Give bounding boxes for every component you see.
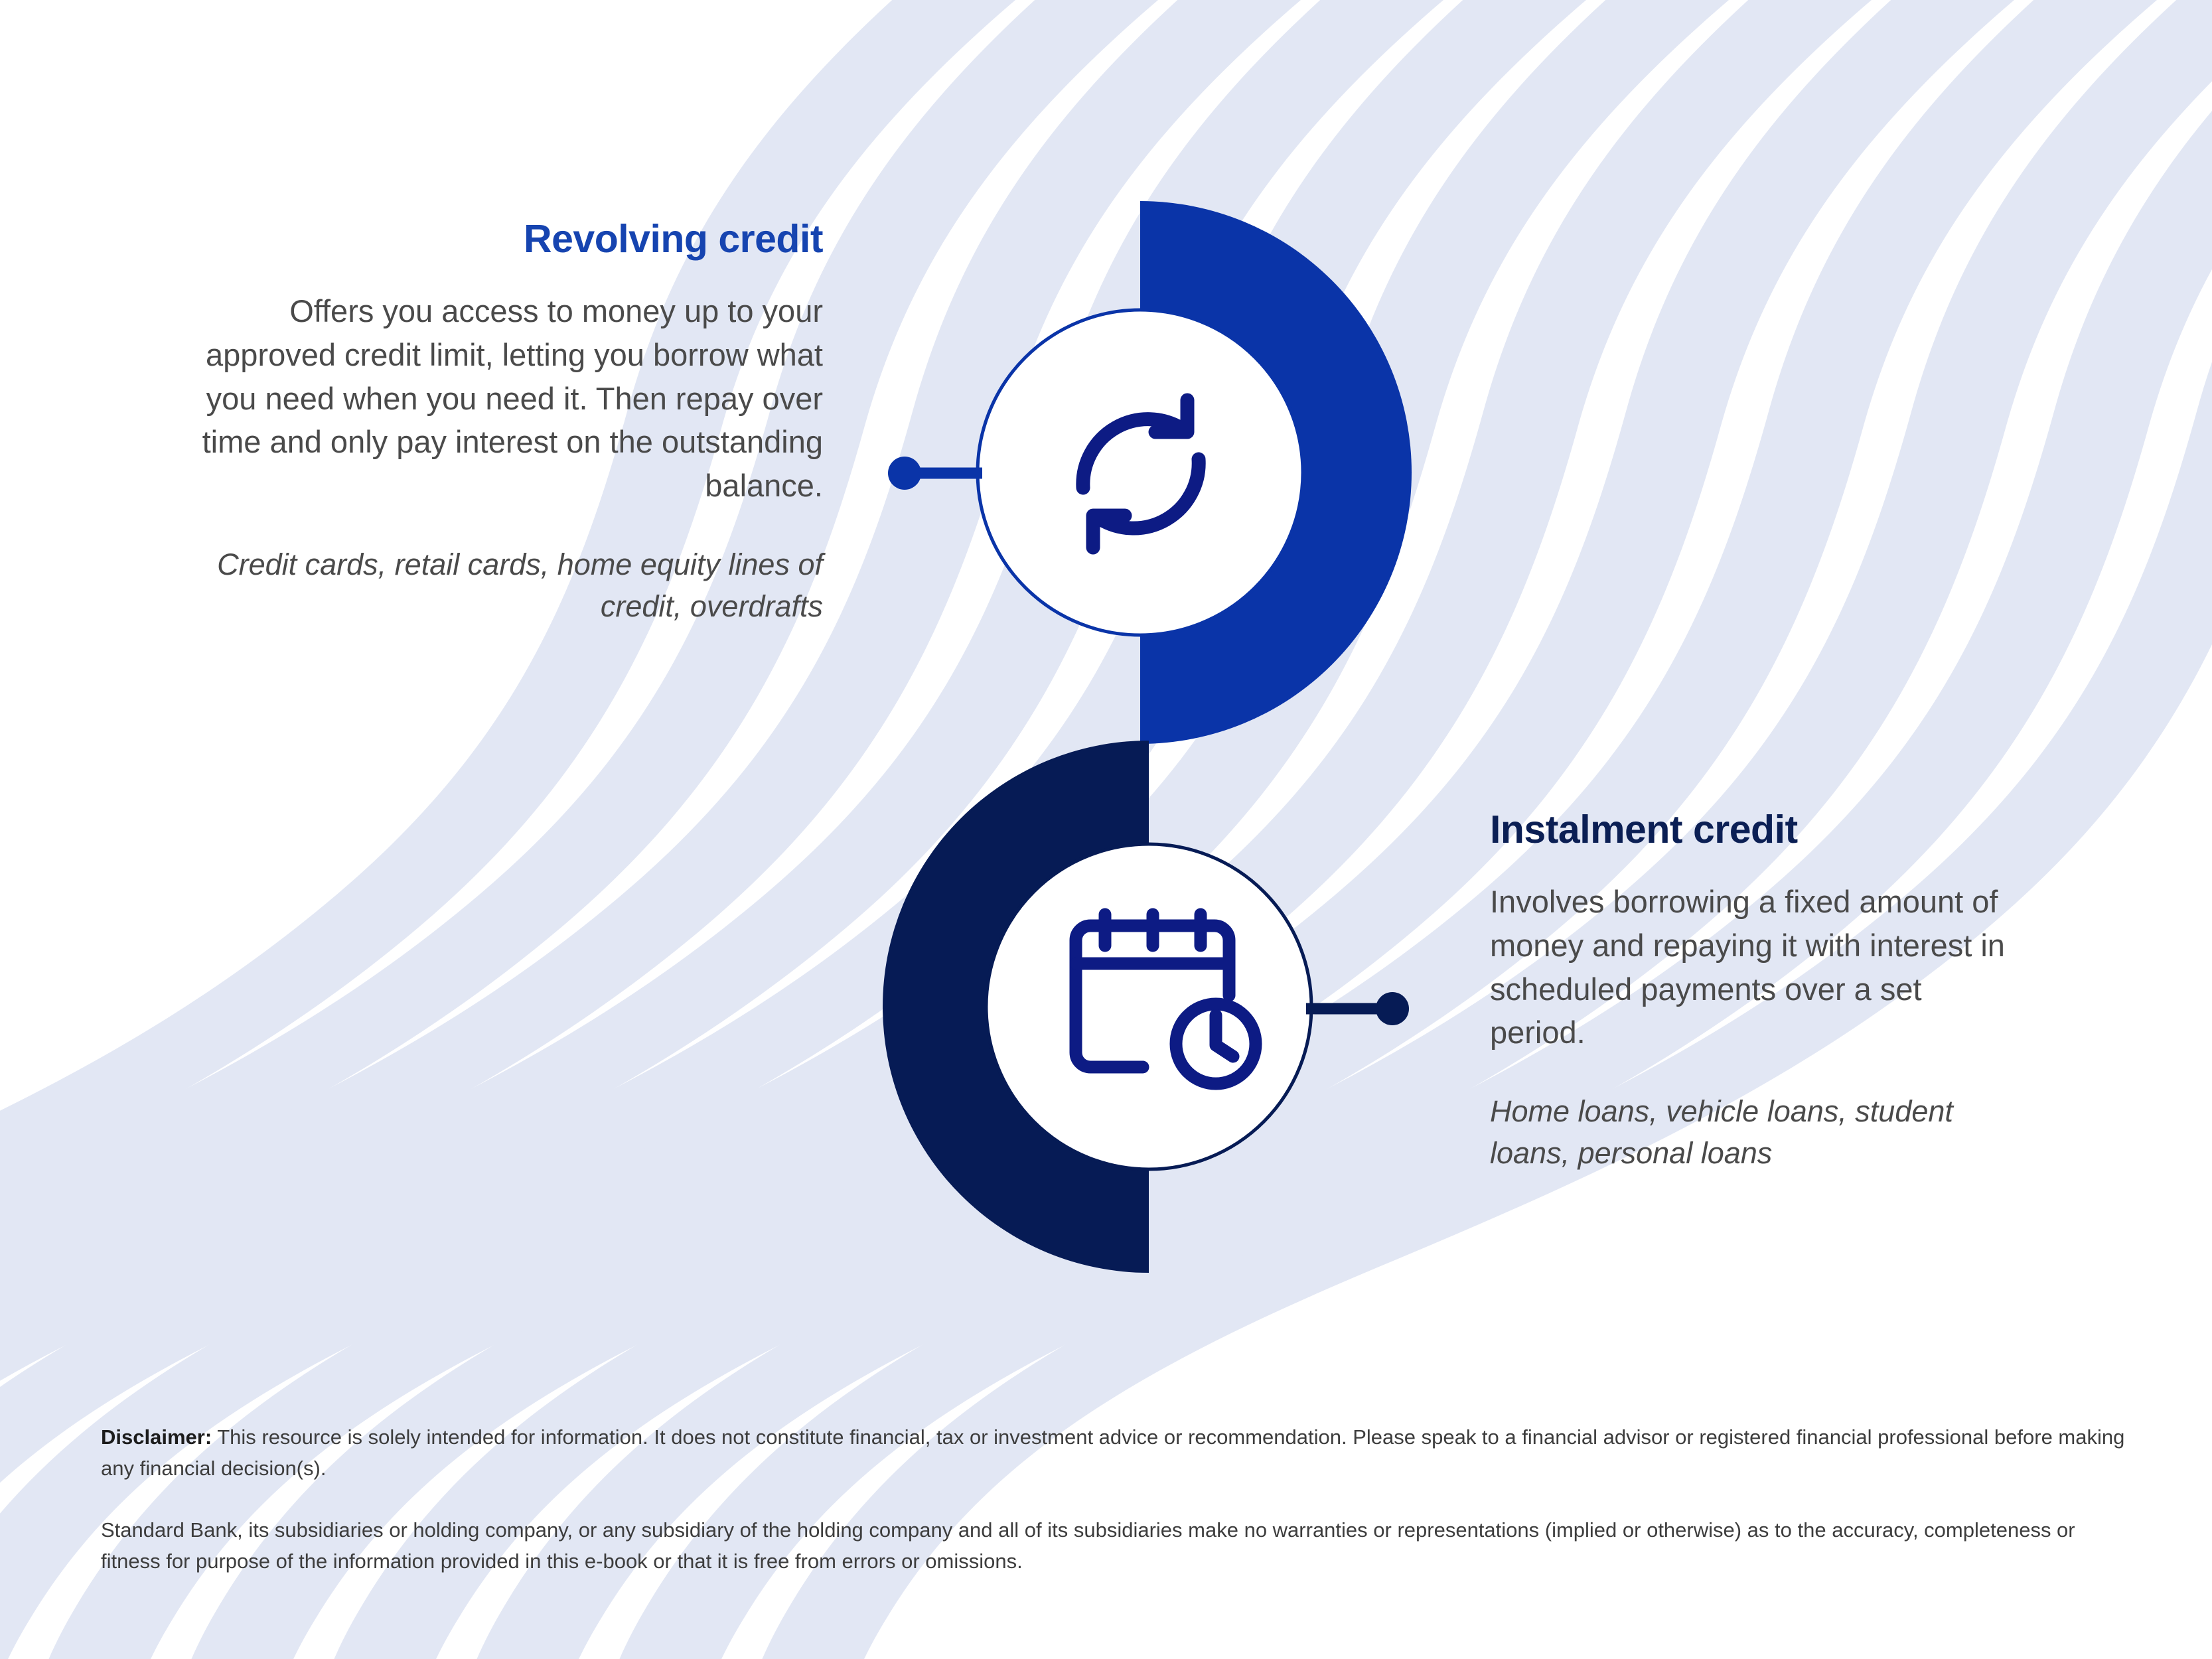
instalment-credit-title: Instalment credit — [1490, 810, 2021, 851]
instalment-credit-connector-dot — [1376, 992, 1409, 1025]
revolving-credit-connector-dot — [888, 457, 921, 490]
revolving-credit-examples: Credit cards, retail cards, home equity … — [199, 543, 823, 627]
disclaimer: Disclaimer: This resource is solely inte… — [101, 1421, 2125, 1577]
infographic-page: Revolving credit Offers you access to mo… — [0, 0, 2212, 1659]
instalment-credit-text-block: Instalment credit Involves borrowing a f… — [1490, 810, 2021, 1174]
revolving-credit-description: Offers you access to money up to your ap… — [199, 289, 823, 508]
disclaimer-paragraph-2: Standard Bank, its subsidiaries or holdi… — [101, 1514, 2125, 1577]
disclaimer-paragraph-1: Disclaimer: This resource is solely inte… — [101, 1421, 2125, 1484]
instalment-credit-half-disc — [883, 741, 1149, 1273]
disclaimer-spacer — [101, 1484, 2125, 1514]
calendar-clock-icon — [1076, 914, 1256, 1084]
revolving-credit-title: Revolving credit — [199, 219, 823, 260]
instalment-credit-icon-circle — [986, 844, 1311, 1169]
revolving-credit-icon-circle — [978, 310, 1303, 635]
revolving-credit-half-disc — [1140, 201, 1412, 744]
revolving-credit-text-block: Revolving credit Offers you access to mo… — [199, 219, 823, 627]
disclaimer-text-1: This resource is solely intended for inf… — [101, 1425, 2124, 1480]
instalment-credit-examples: Home loans, vehicle loans, student loans… — [1490, 1090, 2021, 1174]
instalment-credit-description: Involves borrowing a fixed amount of mon… — [1490, 880, 2021, 1054]
disclaimer-label: Disclaimer: — [101, 1425, 212, 1449]
refresh-cycle-icon — [1083, 400, 1199, 547]
